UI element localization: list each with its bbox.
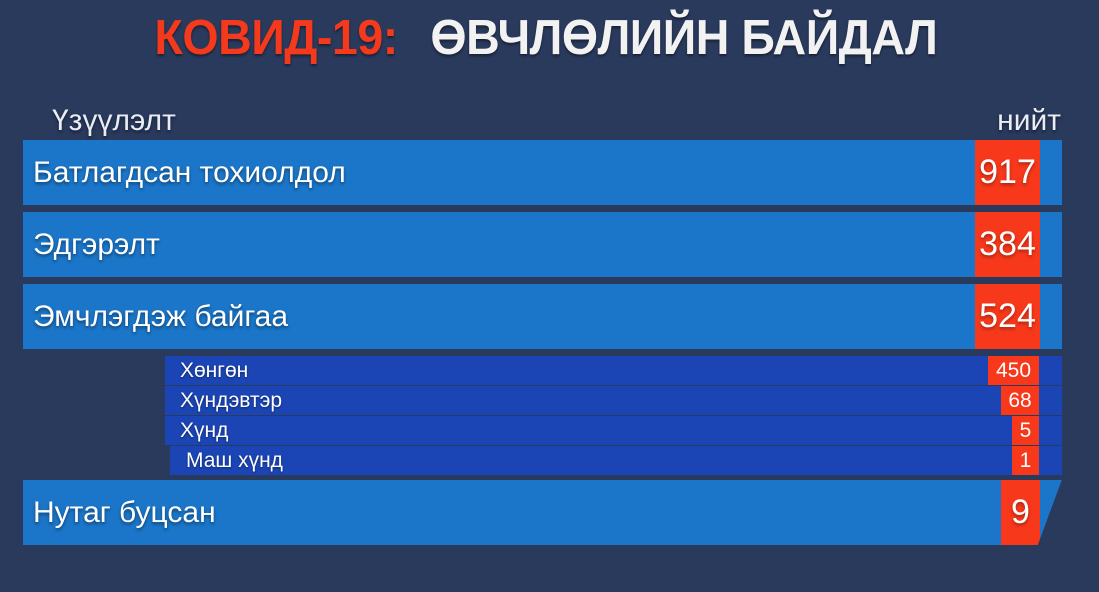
row-label: Нутаг буцсан (33, 480, 216, 545)
row-value: 9 (1001, 480, 1040, 545)
column-header-indicator: Үзүүлэлт (52, 106, 176, 136)
row-value: 917 (975, 140, 1040, 205)
page-title-highlight: КОВИД-19: (154, 14, 397, 63)
subrow-value: 450 (988, 356, 1039, 385)
row-value: 384 (975, 212, 1040, 277)
row-label: Батлагдсан тохиолдол (33, 140, 346, 205)
column-header-total: нийт (997, 106, 1061, 136)
table-subrow: Хүнд 5 (0, 416, 1099, 445)
table-row: Эдгэрэлт 384 (0, 212, 1099, 277)
subrow-value: 68 (1001, 386, 1039, 415)
row-label: Эмчлэгдэж байгаа (33, 284, 288, 349)
table-subrow: Хүндэвтэр 68 (0, 386, 1099, 415)
table-subrow: Хөнгөн 450 (0, 356, 1099, 385)
subrow-bar (170, 446, 1062, 475)
table-row: Нутаг буцсан 9 (0, 480, 1099, 545)
bar-end-wedge (1038, 480, 1062, 545)
subrow-label: Хүндэвтэр (180, 386, 282, 415)
table-row: Батлагдсан тохиолдол 917 (0, 140, 1099, 205)
statistics-table: Батлагдсан тохиолдол 917 Эдгэрэлт 384 Эм… (0, 140, 1099, 552)
subrow-label: Хөнгөн (180, 356, 248, 385)
subrow-bar (165, 386, 1062, 415)
table-row: Эмчлэгдэж байгаа 524 (0, 284, 1099, 349)
page-title-rest: ӨВЧЛӨЛИЙН БАЙДАЛ (431, 14, 938, 63)
subrow-value: 5 (1012, 416, 1039, 445)
subrow-label: Маш хүнд (186, 446, 283, 475)
row-bar (23, 212, 1062, 277)
subrow-bar (165, 356, 1062, 385)
row-value: 524 (975, 284, 1040, 349)
subrow-value: 1 (1012, 446, 1039, 475)
table-subrow: Маш хүнд 1 (0, 446, 1099, 475)
subrow-label: Хүнд (180, 416, 228, 445)
row-label: Эдгэрэлт (33, 212, 160, 277)
subrow-bar (165, 416, 1062, 445)
page-title: КОВИД-19: ӨВЧЛӨЛИЙН БАЙДАЛ (0, 14, 1099, 63)
